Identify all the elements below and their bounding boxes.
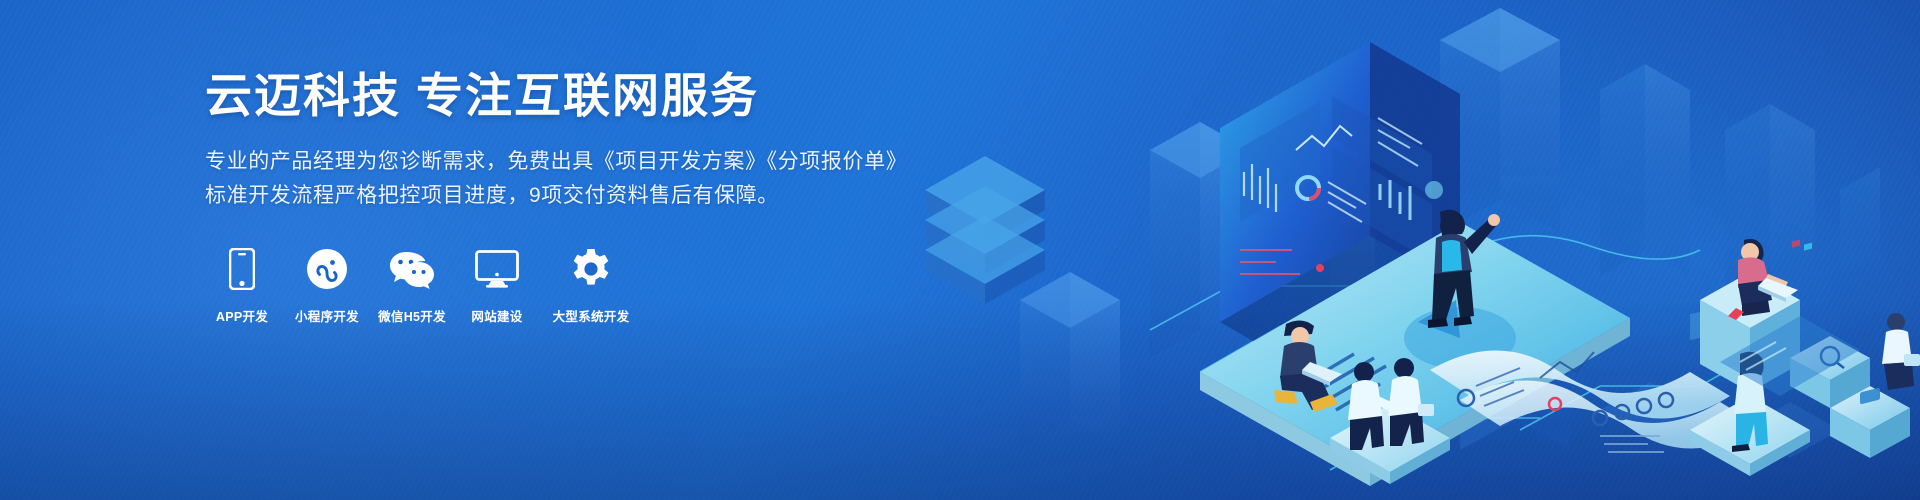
service-label-website: 网站建设 — [471, 306, 522, 325]
promo-banner: 云迈科技 专注互联网服务 专业的产品经理为您诊断需求，免费出具《项目开发方案》《… — [0, 0, 1920, 500]
service-item-wechat[interactable]: 微信H5开发 — [375, 247, 449, 325]
service-label-wechat: 微信H5开发 — [378, 306, 446, 325]
walking-person-right — [1882, 313, 1920, 390]
service-item-system[interactable]: 大型系统开发 — [545, 247, 637, 325]
subtitle-line-1: 专业的产品经理为您诊断需求，免费出具《项目开发方案》《分项报价单》 — [205, 145, 905, 179]
page-title: 云迈科技 专注互联网服务 — [205, 68, 905, 123]
service-item-website[interactable]: 网站建设 — [460, 247, 534, 325]
subtitle-line-2: 标准开发流程严格把控项目进度，9项交付资料售后有保障。 — [205, 179, 905, 213]
subtitle-block: 专业的产品经理为您诊断需求，免费出具《项目开发方案》《分项报价单》 标准开发流程… — [205, 145, 905, 213]
mini-program-icon — [306, 247, 348, 291]
service-label-system: 大型系统开发 — [553, 306, 630, 325]
wechat-icon — [389, 247, 435, 291]
service-label-miniprogram: 小程序开发 — [295, 306, 359, 325]
service-item-miniprogram[interactable]: 小程序开发 — [290, 247, 364, 325]
service-item-app[interactable]: APP开发 — [205, 247, 279, 325]
mobile-phone-icon — [229, 247, 255, 291]
gear-icon — [570, 247, 612, 291]
service-label-app: APP开发 — [216, 306, 268, 325]
monitor-icon — [475, 247, 519, 291]
banner-content: 云迈科技 专注互联网服务 专业的产品经理为您诊断需求，免费出具《项目开发方案》《… — [205, 68, 905, 325]
server-stack — [925, 156, 1045, 304]
service-list: APP开发 小程序开发 — [205, 247, 905, 325]
hero-illustration — [900, 0, 1920, 500]
